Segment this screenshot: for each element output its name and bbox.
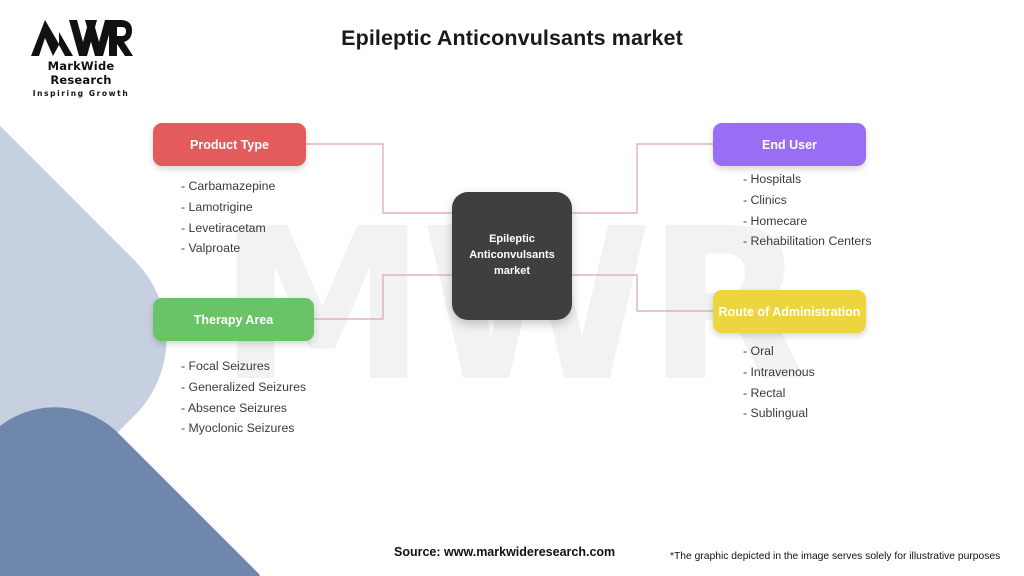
list-item: - Intravenous: [743, 364, 815, 382]
list-item: - Carbamazepine: [181, 178, 275, 196]
connector-end-user: [572, 144, 713, 213]
disclaimer-label: *The graphic depicted in the image serve…: [670, 551, 1000, 562]
center-node-line-1: Epileptic: [469, 232, 555, 248]
connector-product-type: [306, 144, 452, 213]
center-node-line-2: Anticonvulsants: [469, 248, 555, 264]
list-item: - Homecare: [743, 213, 872, 231]
list-item: - Myoclonic Seizures: [181, 420, 306, 438]
list-item: - Clinics: [743, 192, 872, 210]
branch-node-end-user[interactable]: End User: [713, 123, 866, 166]
list-item: - Absence Seizures: [181, 400, 306, 418]
branch-list-end-user: - Hospitals - Clinics - Homecare - Rehab…: [743, 171, 872, 254]
list-item: - Oral: [743, 343, 815, 361]
branch-node-product-type[interactable]: Product Type: [153, 123, 306, 166]
branch-node-route-of-administration[interactable]: Route of Administration: [713, 290, 866, 333]
branch-node-therapy-area[interactable]: Therapy Area: [153, 298, 314, 341]
source-label: Source: www.markwideresearch.com: [394, 545, 615, 559]
branch-list-therapy-area: - Focal Seizures - Generalized Seizures …: [181, 358, 306, 441]
list-item: - Rehabilitation Centers: [743, 233, 872, 251]
branch-list-product-type: - Carbamazepine - Lamotrigine - Levetira…: [181, 178, 275, 261]
list-item: - Valproate: [181, 240, 275, 258]
list-item: - Rectal: [743, 385, 815, 403]
connector-therapy-area: [314, 275, 452, 319]
list-item: - Levetiracetam: [181, 220, 275, 238]
branch-label-product-type: Product Type: [190, 138, 269, 152]
list-item: - Sublingual: [743, 405, 815, 423]
list-item: - Focal Seizures: [181, 358, 306, 376]
list-item: - Hospitals: [743, 171, 872, 189]
branch-label-end-user: End User: [762, 138, 817, 152]
list-item: - Generalized Seizures: [181, 379, 306, 397]
list-item: - Lamotrigine: [181, 199, 275, 217]
branch-label-therapy-area: Therapy Area: [194, 313, 273, 327]
center-node-line-3: market: [469, 264, 555, 280]
branch-list-route-of-administration: - Oral - Intravenous - Rectal - Sublingu…: [743, 343, 815, 426]
branch-label-route-of-administration: Route of Administration: [719, 305, 861, 319]
connector-route-of-administration: [572, 275, 713, 311]
center-node[interactable]: Epileptic Anticonvulsants market: [452, 192, 572, 320]
diagram-canvas: MWR MarkWide Research Inspiring Growth E…: [0, 0, 1024, 576]
